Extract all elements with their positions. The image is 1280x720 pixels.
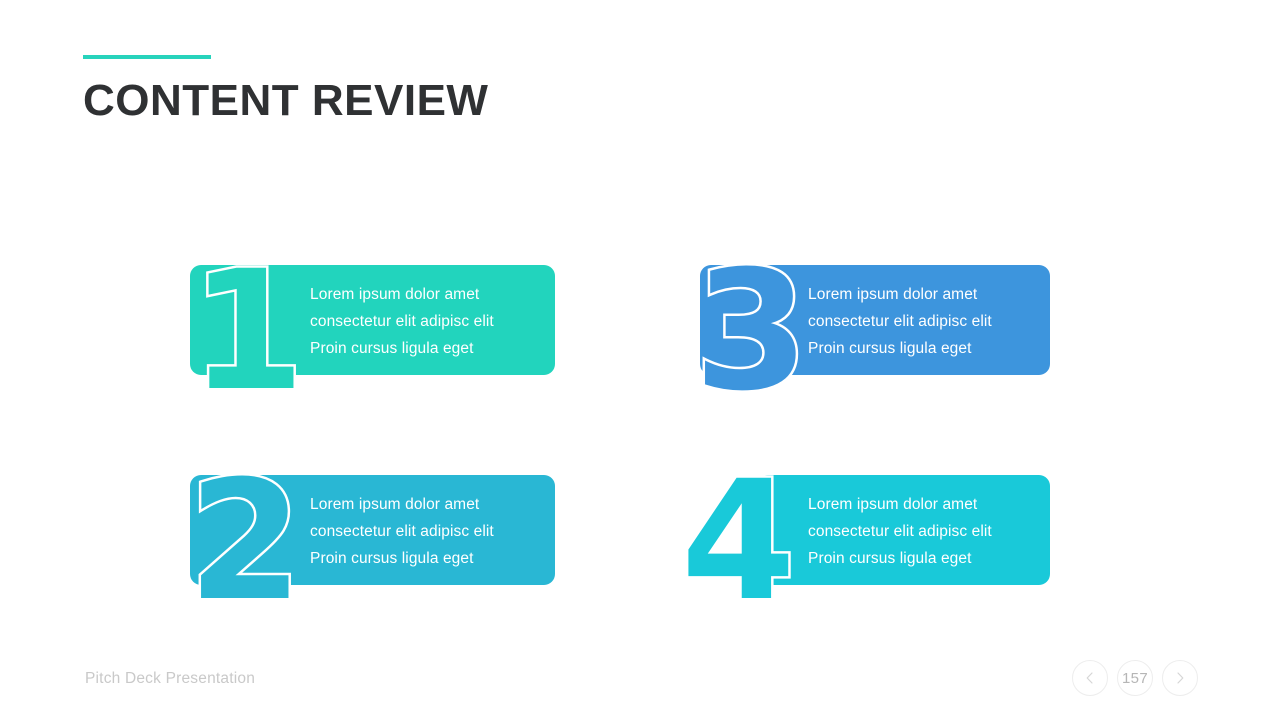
- page-title: CONTENT REVIEW: [83, 79, 488, 123]
- card-1-text: Lorem ipsum dolor amet consectetur elit …: [310, 281, 494, 362]
- previous-slide-button[interactable]: [1072, 660, 1108, 696]
- card-1-numeral: 1: [190, 249, 301, 414]
- page-number-badge: 157: [1117, 660, 1153, 696]
- content-card-1[interactable]: 1 Lorem ipsum dolor amet consectetur eli…: [190, 258, 555, 383]
- next-slide-button[interactable]: [1162, 660, 1198, 696]
- slide-header: CONTENT REVIEW: [83, 55, 488, 123]
- content-card-3[interactable]: 3 Lorem ipsum dolor amet consectetur eli…: [700, 258, 1050, 383]
- page-number: 157: [1122, 670, 1148, 687]
- card-3-numeral: 3: [694, 249, 805, 414]
- pagination: 157: [1072, 660, 1198, 696]
- card-4-numeral: 4: [681, 459, 792, 624]
- content-card-2[interactable]: 2 Lorem ipsum dolor amet consectetur eli…: [190, 468, 555, 593]
- footer-label: Pitch Deck Presentation: [85, 670, 255, 688]
- card-3-text: Lorem ipsum dolor amet consectetur elit …: [808, 281, 992, 362]
- chevron-right-icon: [1173, 671, 1187, 685]
- card-4-text: Lorem ipsum dolor amet consectetur elit …: [808, 491, 992, 572]
- chevron-left-icon: [1083, 671, 1097, 685]
- card-2-numeral: 2: [188, 459, 299, 624]
- title-accent-bar: [83, 55, 211, 59]
- card-2-text: Lorem ipsum dolor amet consectetur elit …: [310, 491, 494, 572]
- content-card-4[interactable]: 4 Lorem ipsum dolor amet consectetur eli…: [683, 468, 1050, 593]
